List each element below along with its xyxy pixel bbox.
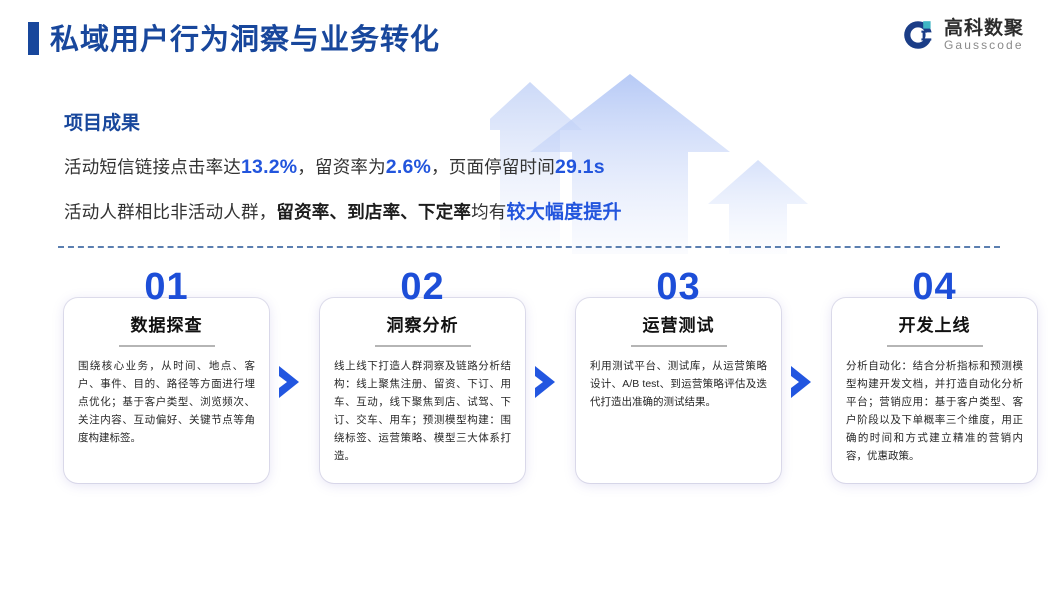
step-body-2: 线上线下打造人群洞察及链路分析结构：线上聚焦注册、留资、下订、用车、互动，线下聚… bbox=[334, 357, 511, 465]
step-title-4: 开发上线 bbox=[832, 311, 1037, 336]
results-metric-ctr: 13.2% bbox=[241, 156, 297, 178]
step-rule-4 bbox=[887, 345, 983, 347]
logo-mark-icon bbox=[901, 18, 935, 52]
step-title-3: 运营测试 bbox=[576, 311, 781, 336]
up-arrow-right-icon bbox=[708, 160, 808, 254]
step-title-2: 洞察分析 bbox=[320, 311, 525, 336]
results-line2-text2: 均有 bbox=[471, 202, 506, 222]
results-line-1: 活动短信链接点击率达13.2%，留资率为2.6%，页面停留时间29.1s bbox=[64, 154, 704, 179]
results-metric-dwell-time: 29.1s bbox=[555, 156, 605, 178]
step-number-1: 01 bbox=[64, 266, 269, 309]
steps-row: 01 数据探查 围绕核心业务，从时间、地点、客户、事件、目的、路径等方面进行埋点… bbox=[0, 268, 1048, 528]
logo-text: 高科数聚 Gausscode bbox=[944, 19, 1024, 52]
step-number-2: 02 bbox=[320, 266, 525, 309]
step-number-3: 03 bbox=[576, 266, 781, 309]
results-block: 项目成果 活动短信链接点击率达13.2%，留资率为2.6%，页面停留时间29.1… bbox=[64, 108, 704, 242]
logo-name-cn: 高科数聚 bbox=[944, 19, 1024, 39]
step-card-3[interactable]: 03 运营测试 利用测试平台、测试库，从运营策略设计、A/B test、到运营策… bbox=[576, 298, 781, 483]
results-line1-text2: ，留资率为 bbox=[297, 157, 386, 177]
slide-canvas: 私域用户行为洞察与业务转化 高科数聚 Gausscode bbox=[0, 0, 1048, 591]
results-line1-text3: ，页面停留时间 bbox=[431, 157, 555, 177]
step-body-4: 分析自动化：结合分析指标和预测模型构建开发文档，并打造自动化分析平台；营销应用：… bbox=[846, 357, 1023, 465]
step-card-1[interactable]: 01 数据探查 围绕核心业务，从时间、地点、客户、事件、目的、路径等方面进行埋点… bbox=[64, 298, 269, 483]
brand-logo: 高科数聚 Gausscode bbox=[901, 18, 1024, 52]
chevron-right-icon-1 bbox=[276, 365, 302, 399]
step-number-4: 04 bbox=[832, 266, 1037, 309]
step-rule-2 bbox=[375, 345, 471, 347]
step-body-3: 利用测试平台、测试库，从运营策略设计、A/B test、到运营策略评估及迭代打造… bbox=[590, 357, 767, 411]
step-card-4[interactable]: 04 开发上线 分析自动化：结合分析指标和预测模型构建开发文档，并打造自动化分析… bbox=[832, 298, 1037, 483]
results-line1-text1: 活动短信链接点击率达 bbox=[64, 157, 241, 177]
step-rule-1 bbox=[119, 345, 215, 347]
page-title: 私域用户行为洞察与业务转化 bbox=[50, 16, 440, 58]
step-title-1: 数据探查 bbox=[64, 311, 269, 336]
step-card-2[interactable]: 02 洞察分析 线上线下打造人群洞察及链路分析结构：线上聚焦注册、留资、下订、用… bbox=[320, 298, 525, 483]
results-heading: 项目成果 bbox=[64, 108, 704, 135]
logo-name-en: Gausscode bbox=[944, 39, 1024, 52]
results-line2-bold: 留资率、到店率、下定率 bbox=[276, 202, 471, 222]
section-divider bbox=[58, 246, 1000, 248]
step-body-1: 围绕核心业务，从时间、地点、客户、事件、目的、路径等方面进行埋点优化；基于客户类… bbox=[78, 357, 255, 447]
chevron-right-icon-2 bbox=[532, 365, 558, 399]
results-line2-highlight: 较大幅度提升 bbox=[507, 202, 622, 223]
slide-header: 私域用户行为洞察与业务转化 高科数聚 Gausscode bbox=[0, 0, 1048, 78]
title-accent-bar bbox=[28, 22, 39, 55]
results-line-2: 活动人群相比非活动人群，留资率、到店率、下定率均有较大幅度提升 bbox=[64, 197, 704, 224]
chevron-right-icon-3 bbox=[788, 365, 814, 399]
step-rule-3 bbox=[631, 345, 727, 347]
results-metric-lead-rate: 2.6% bbox=[386, 156, 431, 178]
results-line2-text1: 活动人群相比非活动人群， bbox=[64, 202, 276, 222]
